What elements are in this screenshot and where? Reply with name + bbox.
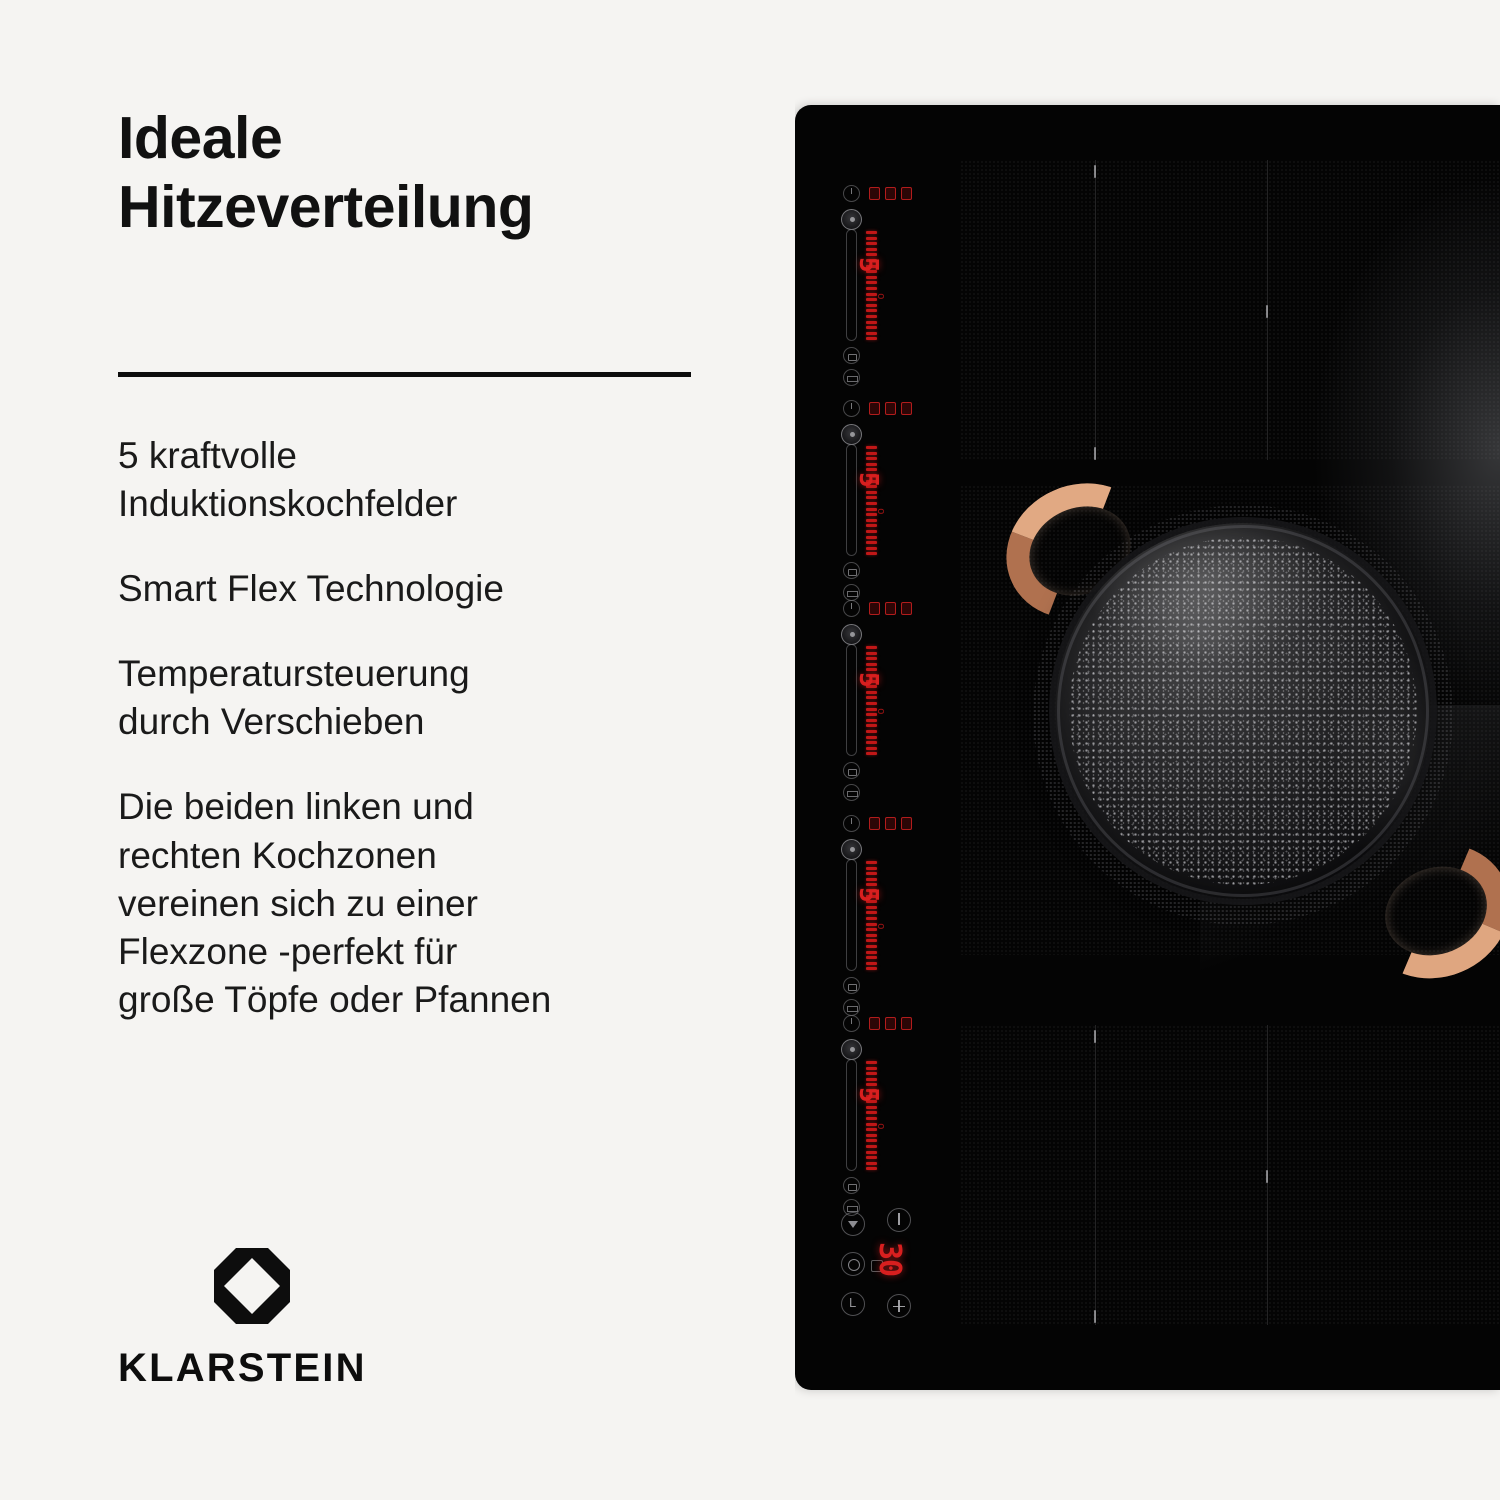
cookware-pot	[1023, 495, 1500, 965]
power-icon[interactable]	[843, 1015, 860, 1032]
boost-icon[interactable]	[869, 187, 912, 200]
power-icon[interactable]	[843, 185, 860, 202]
zone-slider-4[interactable]: 5 o	[839, 815, 951, 1005]
lock-icon[interactable]	[843, 762, 860, 779]
zone-level-indicator: o	[875, 708, 888, 715]
feature-list: 5 kraftvolle Induktionskochfelder Smart …	[118, 432, 718, 1024]
timer-icon[interactable]	[843, 999, 860, 1016]
zone-slider-3[interactable]: 5 o	[839, 600, 951, 790]
product-image: 5 o 5 o	[795, 0, 1500, 1500]
cook-zone-bottom	[960, 1025, 1500, 1325]
slider-knob[interactable]	[841, 424, 862, 445]
slider-track[interactable]	[846, 859, 857, 971]
zone-level-indicator: o	[875, 293, 888, 300]
power-icon[interactable]	[843, 600, 860, 617]
slider-knob[interactable]	[841, 1039, 862, 1060]
slider-knob[interactable]	[841, 209, 862, 230]
zone-level-display: 5	[853, 1087, 883, 1103]
zone-tick-6	[1266, 1170, 1268, 1183]
zone-level-display: 5	[853, 472, 883, 488]
lock-icon[interactable]	[843, 1177, 860, 1194]
slider-track[interactable]	[846, 1059, 857, 1171]
zone-tick-3	[1266, 305, 1268, 318]
boost-icon[interactable]	[869, 402, 912, 415]
power-icon[interactable]	[843, 815, 860, 832]
power-icon[interactable]	[843, 400, 860, 417]
induction-cooktop-surface: 5 o 5 o	[795, 105, 1500, 1390]
slider-leds	[866, 1061, 877, 1170]
slider-track[interactable]	[846, 444, 857, 556]
divider-rule	[118, 372, 691, 377]
lock-icon[interactable]	[841, 1292, 865, 1316]
zone-slider-1[interactable]: 5 o	[839, 185, 951, 375]
zone-tick-4	[1094, 1030, 1096, 1043]
slider-leds	[866, 646, 877, 755]
slider-knob[interactable]	[841, 624, 862, 645]
zone-tick-5	[1094, 1310, 1096, 1323]
zone-slider-5[interactable]: 5 o	[839, 1015, 951, 1205]
zone-level-indicator: o	[875, 508, 888, 515]
zone-level-indicator: o	[875, 923, 888, 930]
pot-texture	[1069, 537, 1417, 885]
zone-divider-1	[1095, 160, 1096, 460]
lock-icon[interactable]	[843, 977, 860, 994]
slider-leds	[866, 861, 877, 970]
boost-icon[interactable]	[869, 1017, 912, 1030]
zone-divider-3	[1095, 1025, 1096, 1325]
plus-icon[interactable]	[887, 1294, 911, 1318]
feature-item-2: Smart Flex Technologie	[118, 565, 718, 613]
master-control-panel[interactable]: 30	[835, 1208, 965, 1328]
zone-level-display: 5	[853, 887, 883, 903]
cook-zone-top	[960, 160, 1500, 460]
page-title: Ideale Hitzeverteilung	[118, 104, 738, 242]
boost-icon[interactable]	[869, 602, 912, 615]
feature-item-3: Temperatursteuerung durch Verschieben	[118, 650, 718, 746]
timer-icon[interactable]	[843, 369, 860, 386]
brand-logo: KLARSTEIN	[118, 1248, 367, 1391]
timer-icon[interactable]	[843, 584, 860, 601]
zone-tick-2	[1094, 447, 1096, 460]
slider-track[interactable]	[846, 644, 857, 756]
circle-icon[interactable]	[841, 1252, 865, 1276]
slider-track[interactable]	[846, 229, 857, 341]
zone-tick-1	[1094, 165, 1096, 178]
octagon-diamond-logo-icon	[214, 1248, 290, 1324]
zone-slider-2[interactable]: 5 o	[839, 400, 951, 590]
slider-leds	[866, 231, 877, 340]
fan-icon[interactable]	[841, 1212, 865, 1236]
timer-display: 30	[872, 1242, 907, 1276]
lock-icon[interactable]	[843, 347, 860, 364]
slider-knob[interactable]	[841, 839, 862, 860]
product-feature-card: Ideale Hitzeverteilung 5 kraftvolle Indu…	[0, 0, 1500, 1500]
brand-name: KLARSTEIN	[118, 1346, 367, 1391]
lock-icon[interactable]	[843, 562, 860, 579]
power-icon[interactable]	[887, 1208, 911, 1232]
timer-icon[interactable]	[843, 784, 860, 801]
feature-item-1: 5 kraftvolle Induktionskochfelder	[118, 432, 718, 528]
slider-leds	[866, 446, 877, 555]
feature-item-4: Die beiden linken und rechten Kochzonen …	[118, 783, 718, 1023]
zone-level-indicator: o	[875, 1123, 888, 1130]
pot-body	[1055, 523, 1431, 899]
zone-level-display: 5	[853, 672, 883, 688]
boost-icon[interactable]	[869, 817, 912, 830]
zone-level-display: 5	[853, 257, 883, 273]
text-panel: Ideale Hitzeverteilung 5 kraftvolle Indu…	[0, 0, 795, 1500]
